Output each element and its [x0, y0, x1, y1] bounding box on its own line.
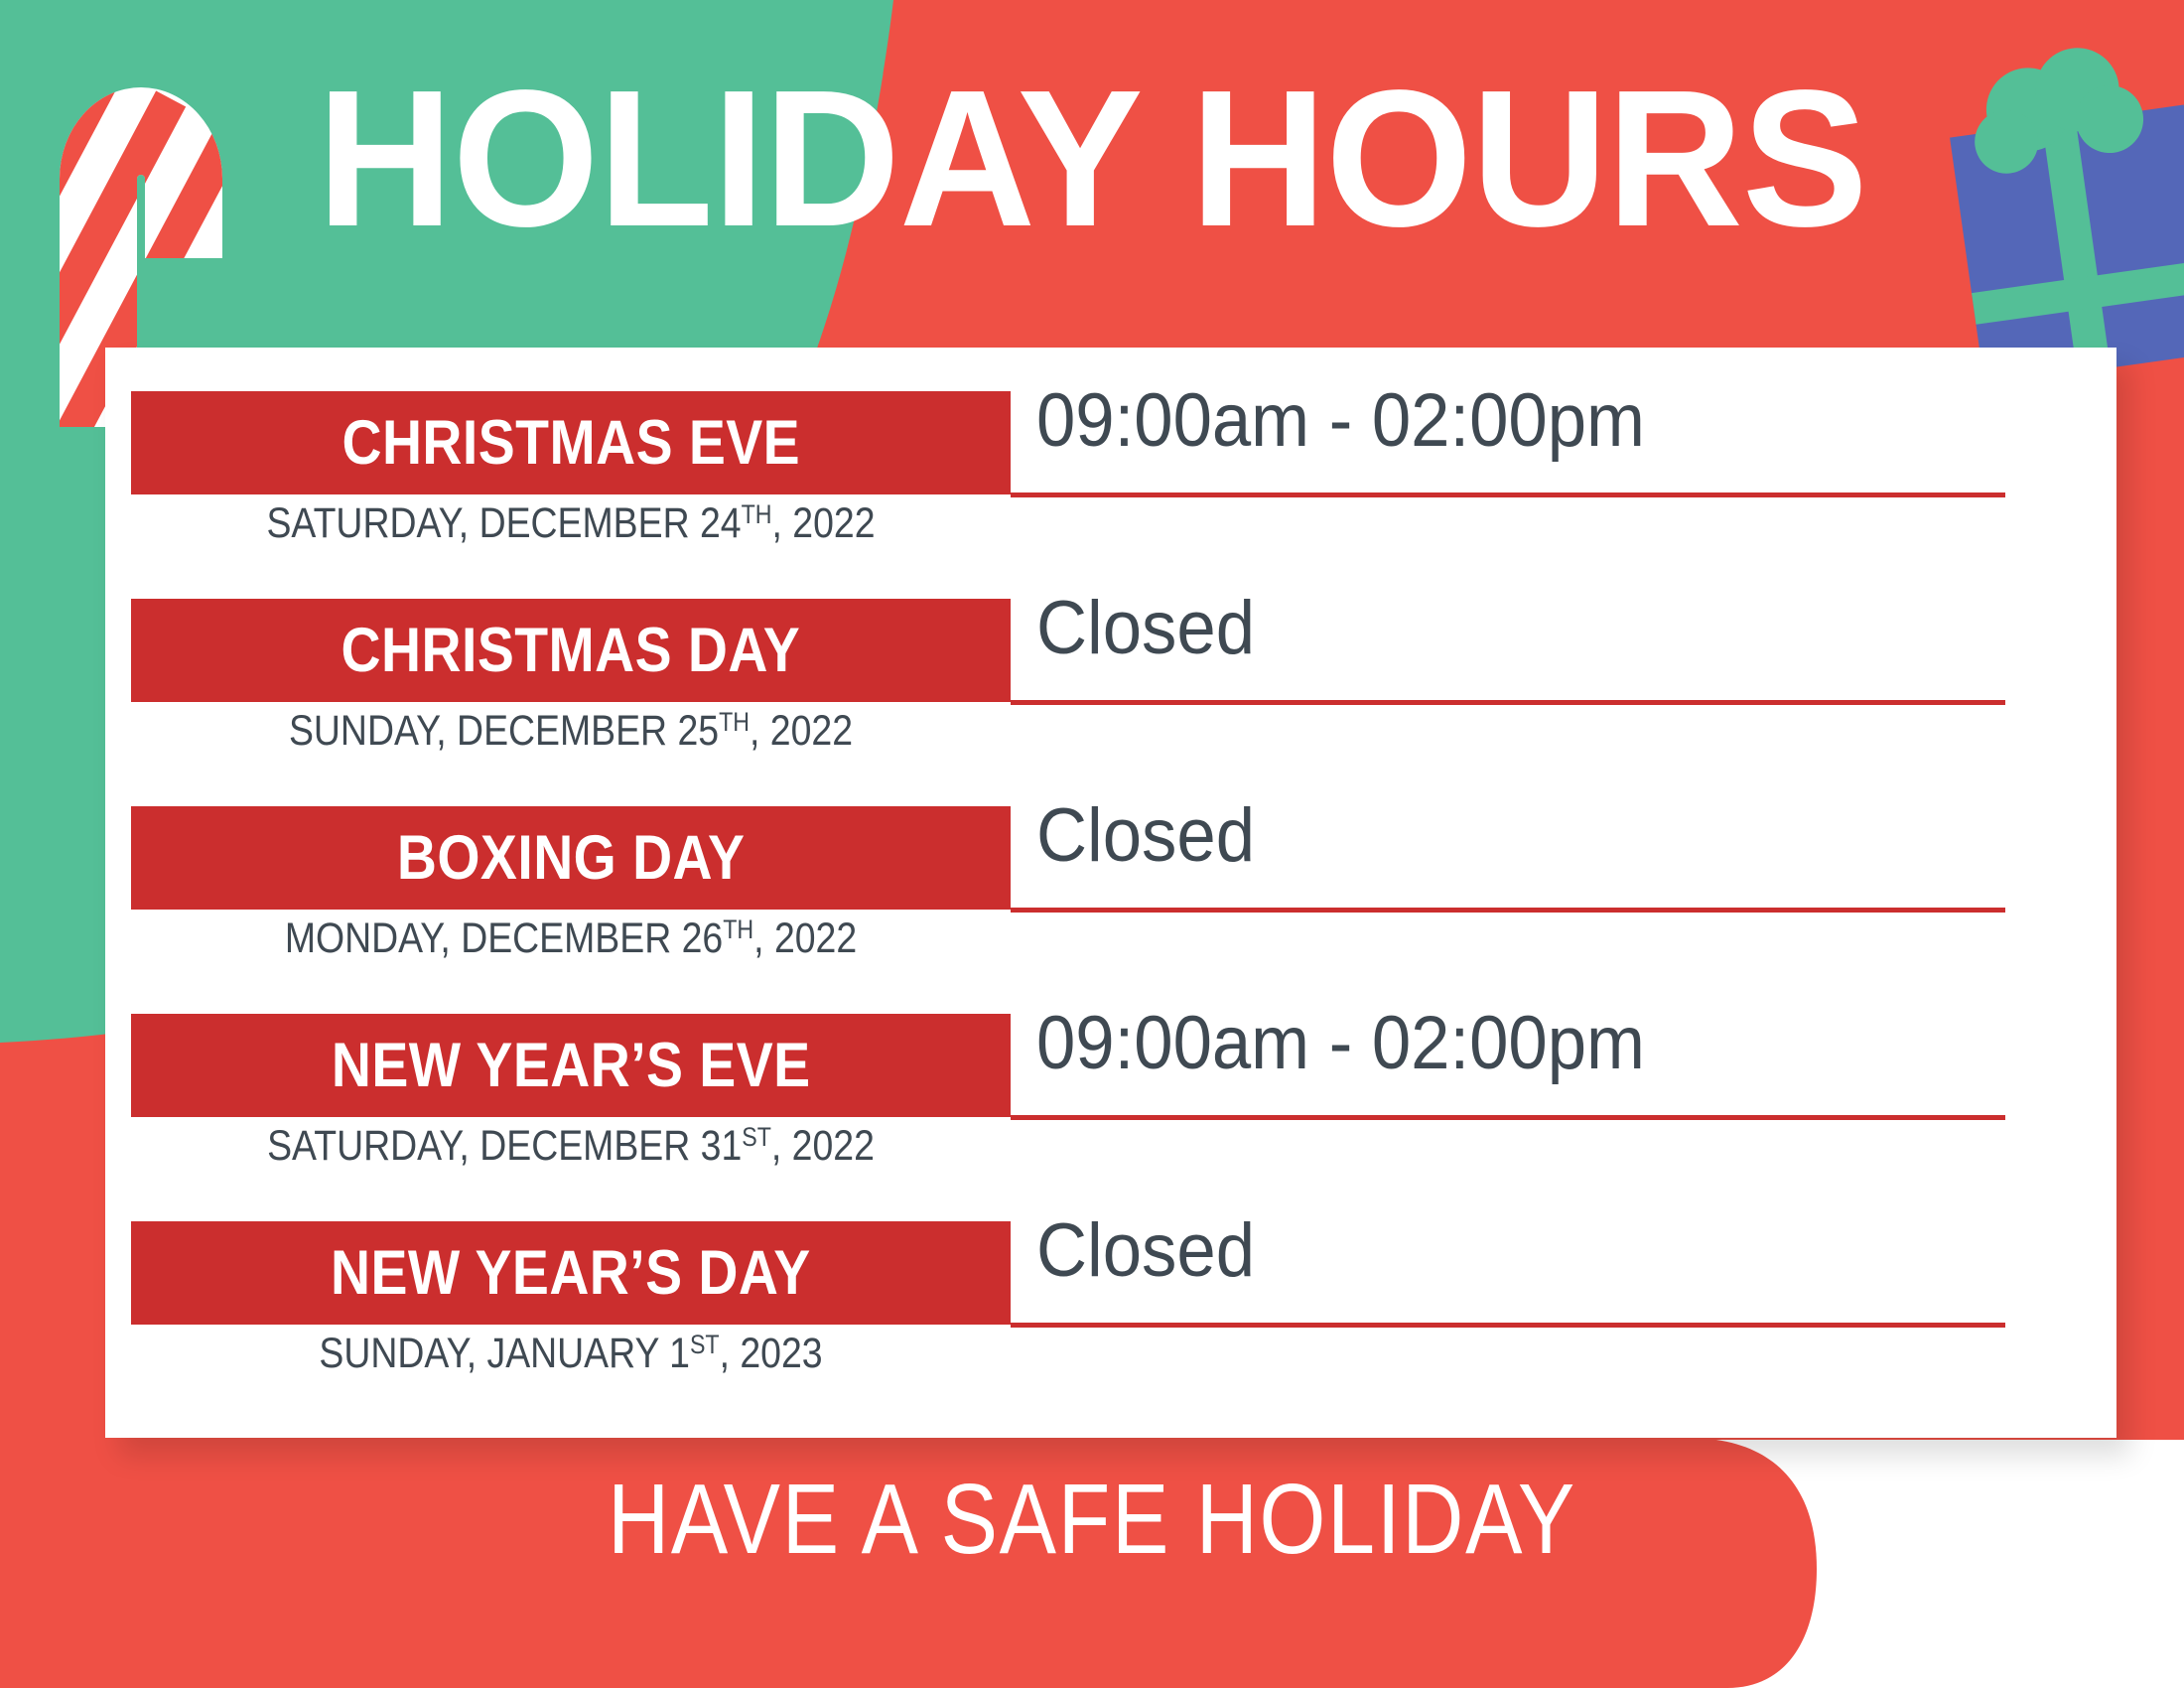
hours-value: Closed — [1036, 591, 1960, 666]
day-name-label: CHRISTMAS DAY — [341, 620, 801, 682]
footer-tagline: HAVE A SAFE HOLIDAY — [153, 1470, 2031, 1569]
day-date-ordinal: TH — [742, 499, 772, 529]
hours-underline — [1011, 1115, 2005, 1120]
day-date-year: , 2023 — [720, 1330, 823, 1377]
hours-value: 09:00am - 02:00pm — [1036, 1006, 1960, 1081]
day-date-main: MONDAY, DECEMBER 26 — [285, 914, 723, 962]
hours-card: CHRISTMAS EVESATURDAY, DECEMBER 24TH, 20… — [105, 348, 2116, 1438]
day-date: MONDAY, DECEMBER 26TH, 2022 — [189, 910, 954, 967]
day-name-label: BOXING DAY — [397, 827, 745, 890]
day-name-label: CHRISTMAS EVE — [341, 412, 800, 475]
day-date-main: SATURDAY, DECEMBER 24 — [266, 499, 741, 547]
day-date: SATURDAY, DECEMBER 24TH, 2022 — [189, 494, 954, 552]
hours-value: Closed — [1036, 1213, 1960, 1289]
hours-underline — [1011, 908, 2005, 913]
day-name-label: NEW YEAR’S DAY — [331, 1242, 811, 1305]
day-date: SATURDAY, DECEMBER 31ST, 2022 — [189, 1117, 954, 1175]
day-date-main: SUNDAY, DECEMBER 25 — [289, 707, 719, 755]
day-date-main: SATURDAY, DECEMBER 31 — [267, 1122, 742, 1170]
hours-value: Closed — [1036, 798, 1960, 874]
page-title: HOLIDAY HOURS — [33, 62, 2151, 256]
day-name-chip: NEW YEAR’S EVE — [131, 1014, 1011, 1117]
day-date-year: , 2022 — [772, 499, 876, 547]
day-date-ordinal: ST — [690, 1330, 720, 1359]
hours-value: 09:00am - 02:00pm — [1036, 383, 1960, 459]
day-date: SUNDAY, JANUARY 1ST, 2023 — [189, 1325, 954, 1382]
day-date-main: SUNDAY, JANUARY 1 — [319, 1330, 690, 1377]
day-date-year: , 2022 — [750, 707, 853, 755]
day-name-chip: BOXING DAY — [131, 806, 1011, 910]
day-name-chip: CHRISTMAS DAY — [131, 599, 1011, 702]
day-date-ordinal: TH — [719, 707, 750, 737]
day-name-chip: NEW YEAR’S DAY — [131, 1221, 1011, 1325]
day-date-ordinal: ST — [742, 1122, 771, 1152]
hours-underline — [1011, 492, 2005, 497]
day-name-label: NEW YEAR’S EVE — [332, 1035, 811, 1097]
holiday-hours-poster: HOLIDAY HOURS CHRISTMAS EVESATURDAY, DEC… — [0, 0, 2184, 1688]
day-date: SUNDAY, DECEMBER 25TH, 2022 — [189, 702, 954, 760]
day-date-year: , 2022 — [753, 914, 857, 962]
hours-list: CHRISTMAS EVESATURDAY, DECEMBER 24TH, 20… — [105, 348, 2116, 1438]
day-date-year: , 2022 — [771, 1122, 875, 1170]
hours-underline — [1011, 1323, 2005, 1328]
hours-underline — [1011, 700, 2005, 705]
day-date-ordinal: TH — [723, 914, 753, 944]
day-name-chip: CHRISTMAS EVE — [131, 391, 1011, 494]
